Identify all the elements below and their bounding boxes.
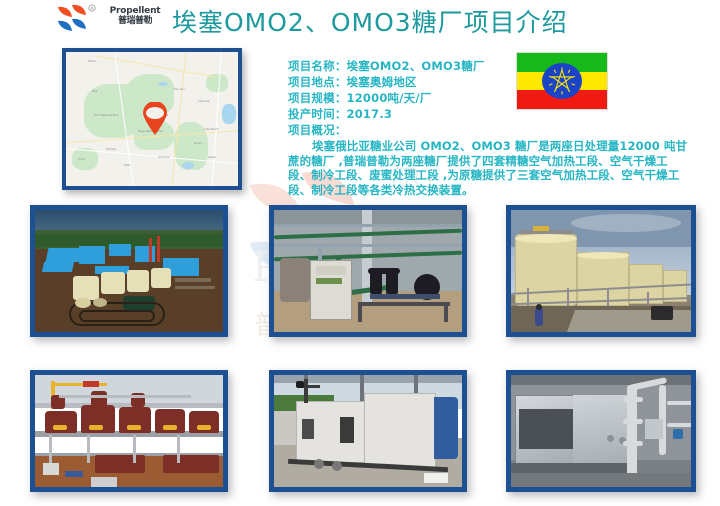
ethiopia-flag	[516, 52, 608, 110]
map-label: Arba Minch	[204, 128, 219, 131]
photo-stainless-heat-exchanger[interactable]	[506, 370, 696, 492]
info-label: 项目名称	[288, 59, 335, 73]
map-label: Maji	[92, 90, 97, 93]
project-description: 埃塞俄比亚糖业公司 OMO2、OMO3 糖厂是两座日处理量12000 吨甘蔗的糖…	[288, 139, 688, 197]
photo-content	[274, 210, 462, 332]
flag-star-icon	[545, 64, 579, 98]
map-location-pin-icon[interactable]	[142, 102, 168, 136]
presentation-slide: ® Propellent 普瑞普勒 埃塞OMO2、OMO3糖厂项目介绍 (R) …	[0, 0, 720, 506]
info-sep: ：	[335, 91, 347, 105]
info-value: 埃塞奥姆地区	[347, 75, 417, 89]
logo-chinese-name: 普瑞普勒	[104, 16, 166, 26]
info-row-project-location: 项目地点：埃塞奥姆地区	[288, 74, 688, 90]
info-value: 埃塞OMO2、OMO3糖厂	[347, 59, 485, 73]
photo-aerial-sugar-plant[interactable]	[30, 205, 228, 337]
photo-air-handling-unit[interactable]	[269, 370, 467, 492]
page-title: 埃塞OMO2、OMO3糖厂项目介绍	[172, 3, 568, 39]
info-label: 项目概况	[288, 123, 335, 137]
photo-content	[511, 375, 691, 487]
map-label: Omo National Park	[94, 114, 118, 117]
info-label: 项目地点	[288, 75, 335, 89]
photo-storage-tanks[interactable]	[506, 205, 696, 337]
map-label: Chencha	[198, 100, 209, 103]
map-label: Key Afer	[174, 88, 185, 91]
location-map-card[interactable]: Kibish Maji Omo National Park Mago Natio…	[62, 48, 242, 190]
photo-content	[35, 210, 223, 332]
info-sep: ：	[335, 123, 347, 137]
map-canvas: Kibish Maji Omo National Park Mago Natio…	[66, 52, 238, 186]
photo-vessel-installation-site[interactable]	[30, 370, 228, 492]
propellent-logo-icon: ®	[52, 4, 100, 38]
info-row-project-scale: 项目规模：12000吨/天/厂	[288, 90, 688, 106]
map-label: Weyto	[208, 156, 216, 159]
info-value: 12000吨/天/厂	[347, 91, 432, 105]
photo-content	[511, 210, 691, 332]
info-label: 投产时间	[288, 107, 335, 121]
photo-content	[35, 375, 223, 487]
info-value: 2017.3	[347, 107, 393, 121]
map-label: Dimeka	[106, 148, 116, 151]
photo-pump-skid-control-cabinet[interactable]	[269, 205, 467, 337]
map-label: Bulki	[124, 164, 130, 167]
map-label: Turmi	[78, 158, 85, 161]
info-label: 项目规模	[288, 91, 335, 105]
info-sep: ：	[335, 59, 347, 73]
info-sep: ：	[335, 75, 347, 89]
logo-english-name: Propellent	[104, 6, 166, 16]
info-sep: ：	[335, 107, 347, 121]
logo-wordmark: Propellent 普瑞普勒	[104, 6, 166, 27]
photo-content	[274, 375, 462, 487]
map-label: Omorate	[158, 156, 169, 159]
map-label: Konso	[194, 142, 202, 145]
registered-mark: ®	[90, 6, 94, 11]
map-label: Kibish	[88, 60, 96, 63]
project-info-block: 项目名称：埃塞OMO2、OMO3糖厂 项目地点：埃塞奥姆地区 项目规模：1200…	[288, 58, 688, 197]
info-row-project-name: 项目名称：埃塞OMO2、OMO3糖厂	[288, 58, 688, 74]
info-row-commissioning-time: 投产时间：2017.3	[288, 106, 688, 122]
slide-header: ® Propellent 普瑞普勒 埃塞OMO2、OMO3糖厂项目介绍	[0, 0, 720, 44]
info-row-overview-label: 项目概况：	[288, 122, 688, 138]
